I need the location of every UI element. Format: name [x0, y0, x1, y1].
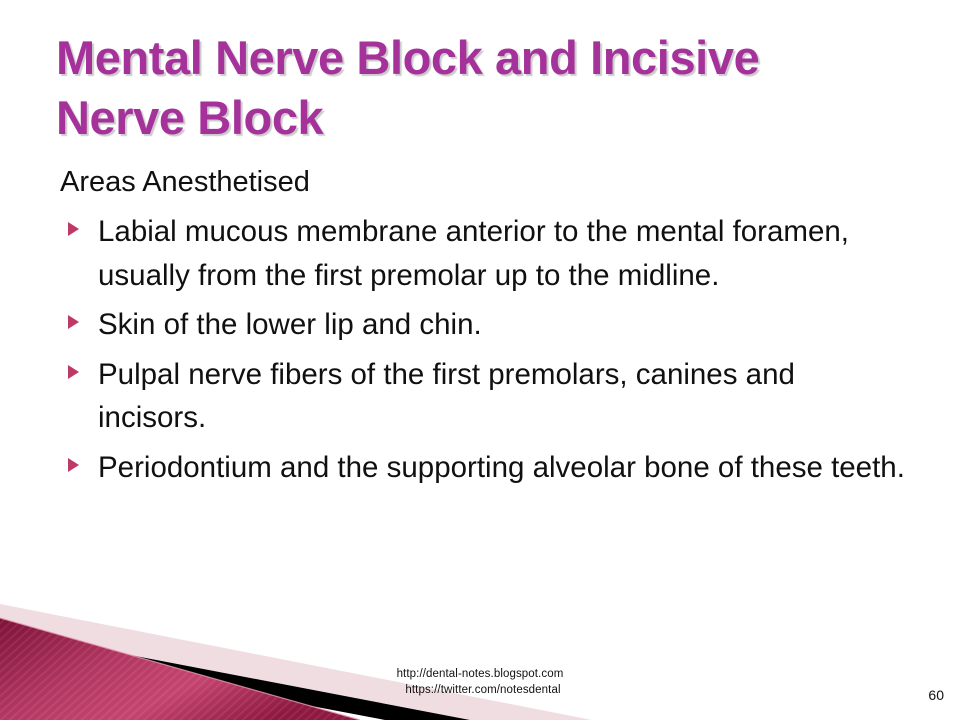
list-item: Pulpal nerve fibers of the first premola…: [60, 353, 905, 440]
list-item-text: Skin of the lower lip and chin.: [98, 308, 482, 341]
list-item: Periodontium and the supporting alveolar…: [60, 446, 905, 490]
banner-band-pink: [0, 604, 592, 720]
body-placeholder: Areas Anesthetised Labial mucous membran…: [60, 163, 905, 496]
bullet-list: Labial mucous membrane anterior to the m…: [60, 210, 905, 490]
corner-banner-graphic: [0, 590, 620, 720]
list-item-text: Periodontium and the supporting alveolar…: [98, 451, 905, 484]
triangle-bullet-icon: [68, 222, 79, 236]
title-placeholder: Mental Nerve Block and Incisive Nerve Bl…: [56, 28, 886, 148]
footer-url-twitter[interactable]: https://twitter.com/notesdental: [0, 682, 960, 698]
triangle-bullet-icon: [68, 365, 79, 379]
corner-banner-decoration: [0, 590, 620, 720]
triangle-bullet-icon: [68, 458, 79, 472]
page-title: Mental Nerve Block and Incisive Nerve Bl…: [56, 28, 886, 148]
list-item-text: Labial mucous membrane anterior to the m…: [98, 215, 849, 292]
section-heading: Areas Anesthetised: [60, 163, 905, 202]
list-item: Labial mucous membrane anterior to the m…: [60, 210, 905, 297]
page-number: 60: [928, 687, 944, 703]
list-item-text: Pulpal nerve fibers of the first premola…: [98, 358, 795, 435]
footer-url-blogspot[interactable]: http://dental-notes.blogspot.com: [0, 666, 960, 682]
triangle-bullet-icon: [68, 315, 79, 329]
slide-canvas: Mental Nerve Block and Incisive Nerve Bl…: [0, 0, 960, 720]
list-item: Skin of the lower lip and chin.: [60, 303, 905, 347]
footer-links: http://dental-notes.blogspot.com https:/…: [0, 666, 960, 699]
